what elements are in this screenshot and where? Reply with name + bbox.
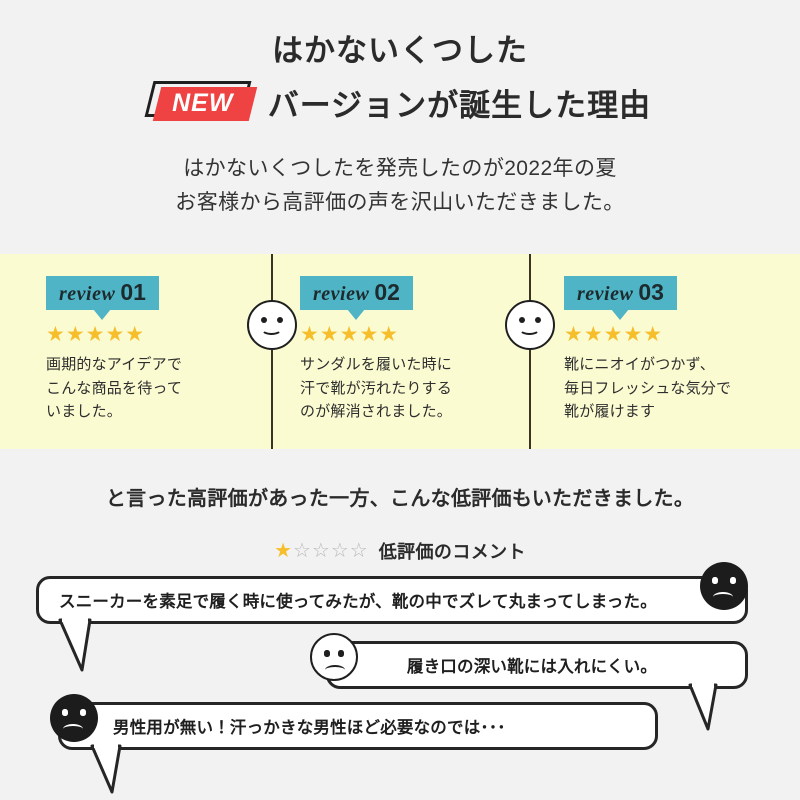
low-rating-heading: ★☆☆☆☆ 低評価のコメント bbox=[0, 538, 800, 564]
low-rating-label: 低評価のコメント bbox=[379, 538, 526, 564]
sad-face-light-icon bbox=[310, 633, 358, 681]
sad-eye-right bbox=[730, 577, 736, 584]
sad-eye-left bbox=[712, 577, 718, 584]
page-title-line-2: バージョンが誕生した理由 bbox=[268, 80, 651, 125]
sad-mouth bbox=[325, 665, 345, 675]
low-rating-stars: ★☆☆☆☆ bbox=[274, 541, 369, 561]
review-badge-02: review 02 bbox=[300, 276, 413, 310]
review-badge-01: review 01 bbox=[46, 276, 159, 310]
review-badge-tail bbox=[347, 309, 365, 320]
review-text-line: 毎日フレッシュな気分で bbox=[564, 377, 731, 400]
review-text-03: 靴にニオイがつかず、 毎日フレッシュな気分で 靴が履けます bbox=[564, 353, 731, 423]
review-text-line: 汗で靴が汚れたりする bbox=[300, 377, 452, 400]
complaint-bubble-3-tail bbox=[92, 746, 134, 792]
review-card-03: review 03 ★★★★★ 靴にニオイがつかず、 毎日フレッシュな気分で 靴… bbox=[536, 254, 800, 449]
review-text-02: サンダルを履いた時に 汗で靴が汚れたりする のが解消されました。 bbox=[300, 353, 452, 423]
complaint-bubble-2-tail bbox=[690, 685, 730, 729]
complaint-bubble-3: 男性用が無い！汗っかきな男性ほど必要なのでは･･･ bbox=[58, 702, 658, 750]
smiley-face-icon bbox=[247, 300, 297, 350]
review-stars-01: ★★★★★ bbox=[46, 324, 145, 345]
complaint-text-3: 男性用が無い！汗っかきな男性ほど必要なのでは･･･ bbox=[113, 714, 506, 738]
smiley-face-icon bbox=[505, 300, 555, 350]
page-subtitle: はかないくつしたを発売したのが2022年の夏 お客様から高評価の声を沢山いただき… bbox=[0, 152, 800, 220]
sad-mouth bbox=[713, 592, 733, 602]
review-text-line: 画期的なアイデアで bbox=[46, 353, 182, 376]
sad-eye-left bbox=[62, 709, 68, 716]
star-empty-icon: ☆☆☆☆ bbox=[293, 540, 369, 562]
smiley-mouth bbox=[261, 323, 282, 335]
review-stars-02: ★★★★★ bbox=[300, 324, 399, 345]
complaint-text-1: スニーカーを素足で履く時に使ってみたが、靴の中でズレて丸まってしまった。 bbox=[59, 588, 657, 612]
review-card-02: review 02 ★★★★★ サンダルを履いた時に 汗で靴が汚れたりする のが… bbox=[282, 254, 536, 449]
product-review-page: はかないくつした NEW バージョンが誕生した理由 はかないくつしたを発売したの… bbox=[0, 0, 800, 800]
review-badge-number: 03 bbox=[638, 280, 664, 305]
page-subtitle-line-1: はかないくつしたを発売したのが2022年の夏 bbox=[0, 152, 800, 186]
transition-text: と言った高評価があった一方、こんな低評価もいただきました。 bbox=[0, 482, 800, 511]
complaint-bubble-1: スニーカーを素足で履く時に使ってみたが、靴の中でズレて丸まってしまった。 bbox=[36, 576, 748, 624]
review-badge-tail bbox=[93, 309, 111, 320]
complaint-bubble-2: 履き口の深い靴には入れにくい。 bbox=[326, 641, 748, 689]
review-badge-03: review 03 bbox=[564, 276, 677, 310]
new-badge: NEW bbox=[149, 81, 255, 123]
review-text-line: いました。 bbox=[46, 400, 182, 423]
review-text-line: 靴にニオイがつかず、 bbox=[564, 353, 731, 376]
review-text-line: 靴が履けます bbox=[564, 400, 731, 423]
review-text-line: サンダルを履いた時に bbox=[300, 353, 452, 376]
review-badge-tail bbox=[611, 309, 629, 320]
review-divider-1 bbox=[271, 254, 273, 449]
star-filled-icon: ★ bbox=[274, 540, 293, 562]
review-divider-2 bbox=[529, 254, 531, 449]
positive-reviews-band: review 01 ★★★★★ 画期的なアイデアで こんな商品を待って いました… bbox=[0, 254, 800, 449]
page-header: はかないくつした NEW バージョンが誕生した理由 はかないくつしたを発売したの… bbox=[0, 0, 800, 220]
review-badge-word: review bbox=[59, 283, 115, 305]
page-subtitle-line-2: お客様から高評価の声を沢山いただきました。 bbox=[0, 186, 800, 220]
sad-face-dark-icon bbox=[50, 694, 98, 742]
new-badge-label: NEW bbox=[149, 81, 255, 123]
sad-eye-right bbox=[80, 709, 86, 716]
complaint-text-2: 履き口の深い靴には入れにくい。 bbox=[407, 653, 657, 677]
review-badge-word: review bbox=[577, 283, 633, 305]
complaint-bubble-1-tail bbox=[60, 620, 106, 670]
sad-eye-left bbox=[324, 650, 330, 657]
page-title-line-1: はかないくつした bbox=[0, 30, 800, 72]
review-text-line: のが解消されました。 bbox=[300, 400, 452, 423]
review-badge-number: 01 bbox=[120, 280, 146, 305]
review-text-01: 画期的なアイデアで こんな商品を待って いました。 bbox=[46, 353, 182, 423]
page-title-line-2-row: NEW バージョンが誕生した理由 bbox=[0, 80, 800, 125]
sad-face-dark-icon bbox=[700, 562, 748, 610]
review-badge-word: review bbox=[313, 283, 369, 305]
smiley-mouth bbox=[519, 323, 540, 335]
sad-eye-right bbox=[338, 650, 344, 657]
review-text-line: こんな商品を待って bbox=[46, 377, 182, 400]
sad-mouth bbox=[63, 724, 83, 734]
review-card-01: review 01 ★★★★★ 画期的なアイデアで こんな商品を待って いました… bbox=[0, 254, 282, 449]
review-badge-number: 02 bbox=[374, 280, 400, 305]
review-stars-03: ★★★★★ bbox=[564, 324, 663, 345]
